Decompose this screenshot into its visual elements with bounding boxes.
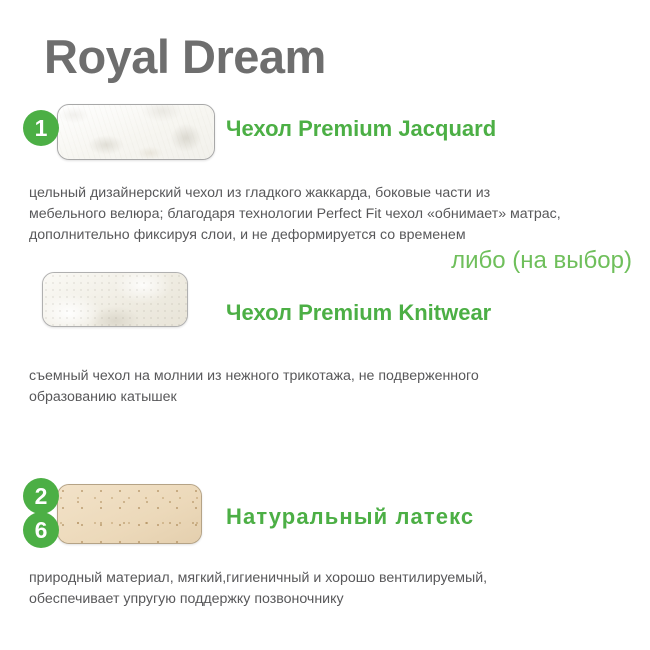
jacquard-fabric-swatch: [57, 104, 215, 160]
section-description-knitwear: съемный чехол на молнии из нежного трико…: [29, 366, 589, 408]
jacquard-weave-overlay: [58, 105, 214, 159]
section-description-jacquard: цельный дизайнерский чехол из гладкого ж…: [29, 183, 641, 246]
section-description-latex: природный материал, мягкий,гигиеничный и…: [29, 568, 609, 610]
knitwear-texture: [43, 273, 187, 326]
layer-badge-1: 1: [23, 110, 59, 146]
layer-badge-6: 6: [23, 512, 59, 548]
choice-note: либо (на выбор): [451, 249, 632, 273]
section-heading-knitwear: Чехол Premium Knitwear: [226, 302, 491, 324]
section-heading-jacquard: Чехол Premium Jacquard: [226, 118, 496, 140]
layer-badge-2: 2: [23, 478, 59, 514]
section-heading-latex: Натуральный латекс: [226, 506, 474, 528]
latex-texture: [58, 485, 201, 543]
latex-material-swatch: [57, 484, 202, 544]
page-title: Royal Dream: [44, 32, 326, 81]
knitwear-fabric-swatch: [42, 272, 188, 327]
